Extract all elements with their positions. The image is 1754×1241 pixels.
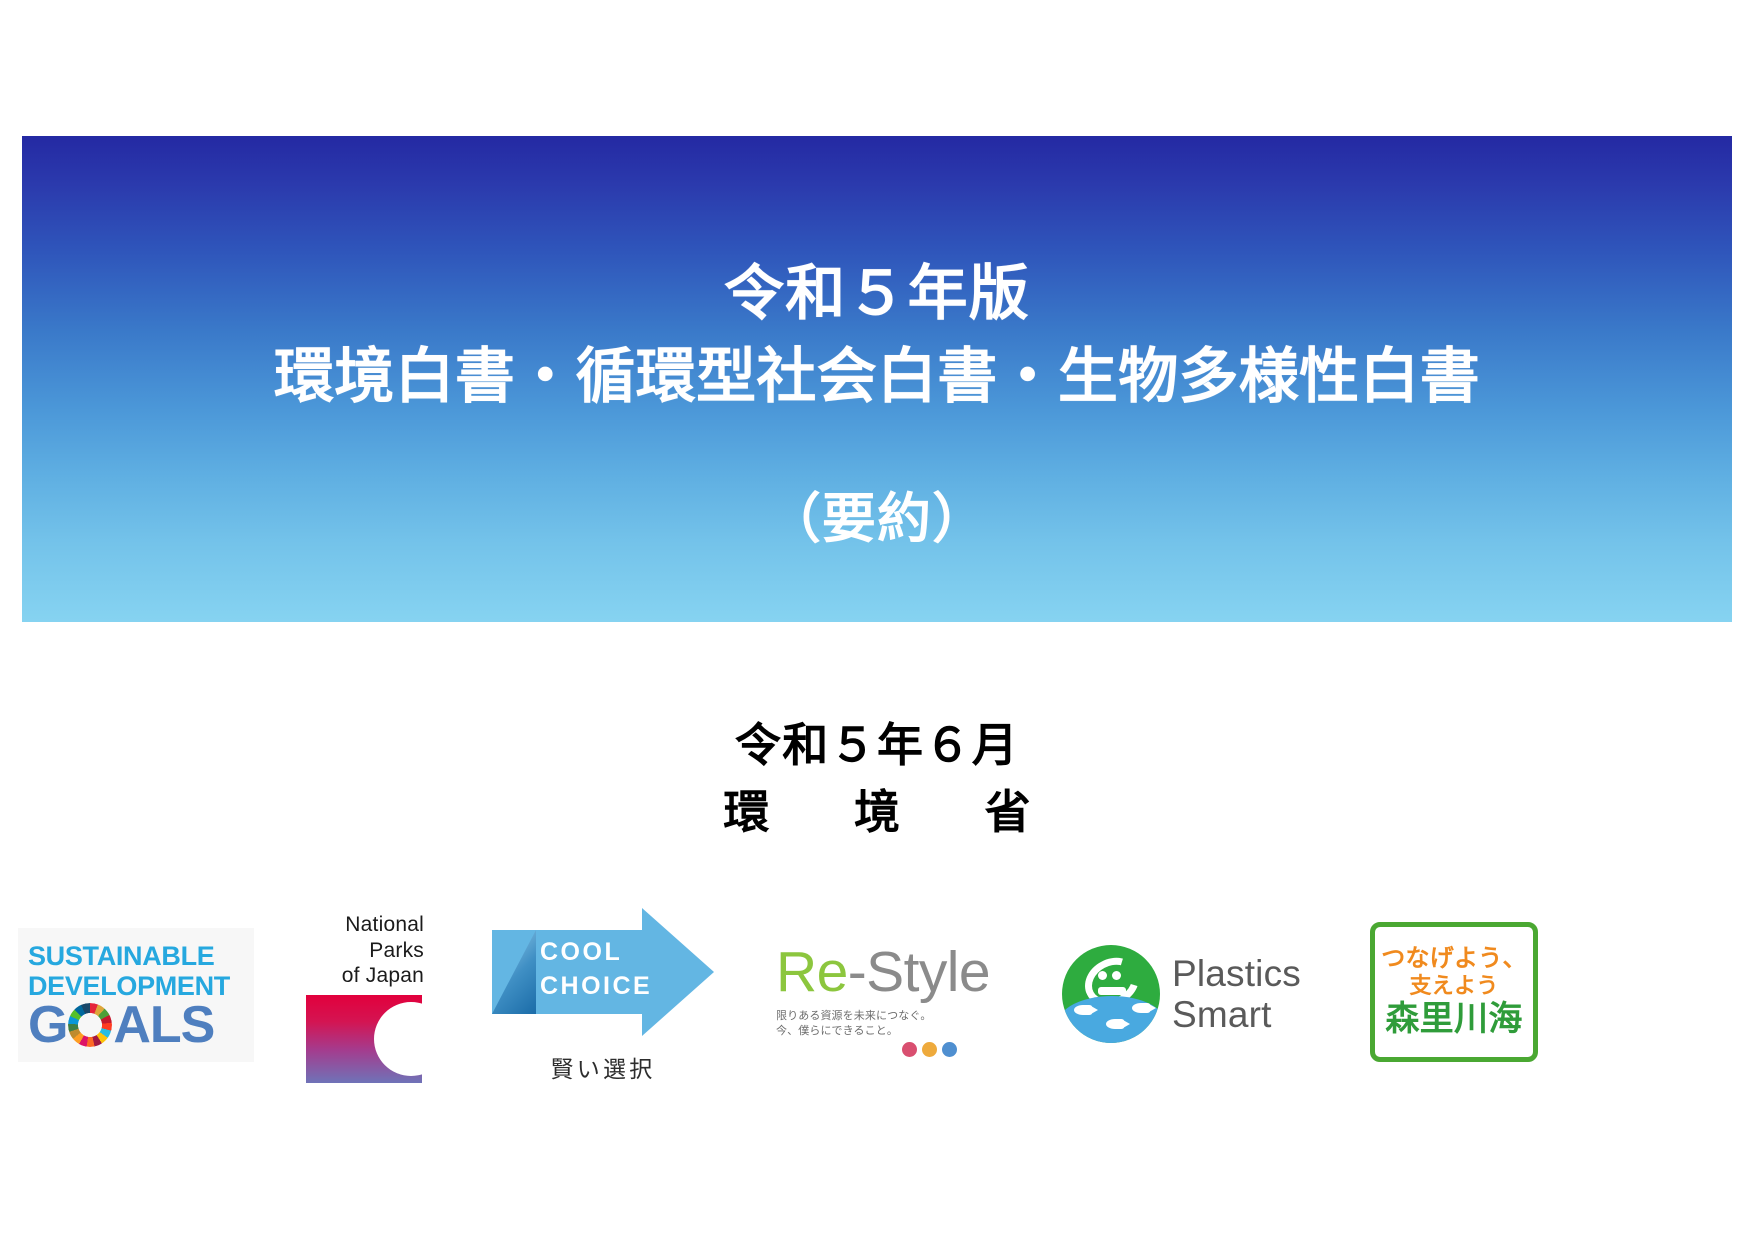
re-style-tagline-line-2: 今、僕らにできること。 xyxy=(776,1024,1016,1039)
plastics-smart-line-1: Plastics xyxy=(1172,953,1301,994)
fish-icon-3 xyxy=(1132,1003,1150,1013)
issue-date: 令和５年６月 xyxy=(0,718,1754,773)
sdgs-line-1: SUSTAINABLE xyxy=(28,943,246,970)
logo-strip: SUSTAINABLE DEVELOPMENT G ALS National P… xyxy=(0,898,1754,1241)
re-style-badge-icon-2 xyxy=(922,1042,937,1057)
plastics-smart-globe-icon xyxy=(1062,945,1160,1043)
national-parks-logo: National Parks of Japan xyxy=(296,912,426,1084)
sdgs-logo: SUSTAINABLE DEVELOPMENT G ALS xyxy=(18,928,254,1062)
re-style-suffix: -Style xyxy=(848,944,990,1001)
re-style-logo: Re -Style 限りある資源を未来につなぐ。 今、僕らにできること。 xyxy=(776,944,1016,1072)
national-parks-wordmark: National Parks of Japan xyxy=(296,912,426,989)
re-style-tagline: 限りある資源を未来につなぐ。 今、僕らにできること。 xyxy=(776,1009,1016,1039)
re-style-prefix: Re xyxy=(776,944,848,1001)
sdgs-color-wheel-icon xyxy=(68,1003,112,1047)
issuer-block: 令和５年６月 環 境 省 xyxy=(0,718,1754,840)
plastics-smart-line-2: Smart xyxy=(1172,994,1301,1035)
national-parks-line-2: Parks xyxy=(296,938,424,964)
plastics-smart-wordmark: Plastics Smart xyxy=(1172,953,1301,1036)
title-line-2: 環境白書・循環型社会白書・生物多様性白書 xyxy=(274,339,1480,416)
fish-icon-2 xyxy=(1106,1019,1124,1029)
title-subtitle: （要約） xyxy=(767,474,987,553)
re-style-tagline-line-1: 限りある資源を未来につなぐ。 xyxy=(776,1009,1016,1024)
national-parks-emblem-icon xyxy=(306,995,422,1083)
cool-choice-arrow-icon: COOL CHOICE xyxy=(492,908,714,1036)
re-style-wordmark: Re -Style xyxy=(776,944,1016,1001)
msku-line-1: つなげよう、 xyxy=(1381,946,1526,972)
re-style-badges xyxy=(902,1042,1016,1057)
msku-line-2: 支えよう xyxy=(1410,974,1499,998)
national-parks-line-1: National xyxy=(296,912,424,938)
sdgs-goals-als: ALS xyxy=(113,1002,214,1049)
national-parks-line-3: of Japan xyxy=(296,963,424,989)
issuing-organization: 環 境 省 xyxy=(0,785,1754,840)
page-title: 令和５年版 環境白書・循環型社会白書・生物多様性白書 xyxy=(274,256,1480,416)
title-line-1: 令和５年版 xyxy=(274,256,1480,333)
cool-choice-line-2: CHOICE xyxy=(540,970,660,1004)
msku-line-3: 森里川海 xyxy=(1385,1002,1522,1038)
fish-icon-1 xyxy=(1074,1005,1092,1015)
cool-choice-logo: COOL CHOICE 賢い選択 xyxy=(492,908,722,1098)
plastics-smart-logo: Plastics Smart xyxy=(1062,934,1302,1054)
re-style-badge-icon-1 xyxy=(902,1042,917,1057)
re-style-badge-icon-3 xyxy=(942,1042,957,1057)
cool-choice-line-1: COOL xyxy=(540,936,660,970)
title-banner: 令和５年版 環境白書・循環型社会白書・生物多様性白書 （要約） xyxy=(22,136,1732,622)
cool-choice-caption: 賢い選択 xyxy=(492,1050,714,1084)
cool-choice-wordmark: COOL CHOICE xyxy=(540,936,660,1004)
title-slide: 令和５年版 環境白書・循環型社会白書・生物多様性白書 （要約） 令和５年６月 環… xyxy=(0,0,1754,1241)
mori-sato-kawa-umi-logo: つなげよう、 支えよう 森里川海 xyxy=(1370,922,1538,1062)
people-base xyxy=(1098,987,1126,995)
sdgs-goals-g: G xyxy=(28,1002,67,1049)
sdgs-goals-wordmark: G ALS xyxy=(28,1002,246,1049)
